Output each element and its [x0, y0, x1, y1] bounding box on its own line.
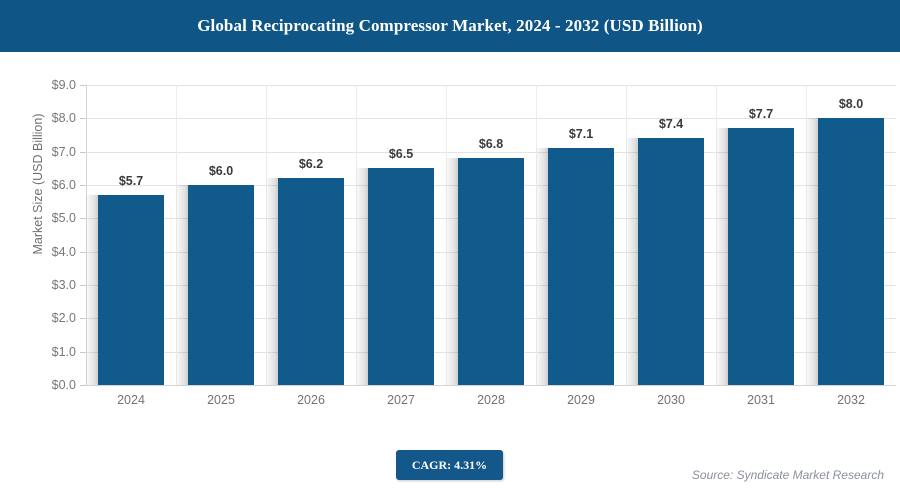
y-tick-mark	[80, 85, 86, 86]
y-tick-mark	[80, 185, 86, 186]
x-tick-label: 2029	[548, 393, 614, 407]
bar-shadow	[715, 128, 728, 385]
bar-group: $6.22026	[278, 85, 344, 385]
bar[interactable]	[278, 178, 344, 385]
bar-group: $5.72024	[98, 85, 164, 385]
y-tick-label: $2.0	[52, 311, 76, 325]
y-tick-label: $3.0	[52, 278, 76, 292]
bar-value-label: $5.7	[98, 174, 164, 188]
bar[interactable]	[368, 168, 434, 385]
bar-shadow	[85, 195, 98, 385]
y-tick-label: $4.0	[52, 245, 76, 259]
chart-header-banner: Global Reciprocating Compressor Market, …	[0, 0, 900, 52]
x-tick-label: 2030	[638, 393, 704, 407]
bar[interactable]	[548, 148, 614, 385]
bar-group: $6.52027	[368, 85, 434, 385]
bar-shadow	[805, 118, 818, 385]
bar[interactable]	[818, 118, 884, 385]
bar-shadow	[535, 148, 548, 385]
bar-group: $6.02025	[188, 85, 254, 385]
x-tick-label: 2025	[188, 393, 254, 407]
bar[interactable]	[728, 128, 794, 385]
bar-group: $7.12029	[548, 85, 614, 385]
source-note: Source: Syndicate Market Research	[692, 468, 884, 482]
x-tick-label: 2027	[368, 393, 434, 407]
bar[interactable]	[188, 185, 254, 385]
y-tick-label: $8.0	[52, 111, 76, 125]
bar-value-label: $8.0	[818, 97, 884, 111]
y-axis-title: Market Size (USD Billion)	[31, 84, 45, 284]
bar-value-label: $6.5	[368, 147, 434, 161]
bar-group: $7.72031	[728, 85, 794, 385]
bar[interactable]	[638, 138, 704, 385]
chart-page: Global Reciprocating Compressor Market, …	[0, 0, 900, 500]
bar-shadow	[175, 185, 188, 385]
bar-value-label: $7.7	[728, 107, 794, 121]
y-tick-label: $7.0	[52, 145, 76, 159]
bar[interactable]	[98, 195, 164, 385]
y-tick-label: $5.0	[52, 211, 76, 225]
x-tick-label: 2026	[278, 393, 344, 407]
bar-shadow	[265, 178, 278, 385]
bar-group: $7.42030	[638, 85, 704, 385]
bar-value-label: $6.2	[278, 157, 344, 171]
bar[interactable]	[458, 158, 524, 385]
cagr-label: CAGR: 4.31%	[412, 458, 487, 473]
y-tick-label: $0.0	[52, 378, 76, 392]
gridline	[86, 385, 896, 386]
bar-group: $8.02032	[818, 85, 884, 385]
bar-shadow	[625, 138, 638, 385]
y-tick-mark	[80, 385, 86, 386]
x-tick-label: 2028	[458, 393, 524, 407]
y-tick-mark	[80, 118, 86, 119]
bar-shadow	[355, 168, 368, 385]
bar-value-label: $7.4	[638, 117, 704, 131]
plot-area: $0.0$1.0$2.0$3.0$4.0$5.0$6.0$7.0$8.0$9.0…	[86, 85, 896, 385]
bar-shadow	[445, 158, 458, 385]
cagr-badge: CAGR: 4.31%	[396, 450, 503, 480]
y-tick-label: $9.0	[52, 78, 76, 92]
y-tick-label: $1.0	[52, 345, 76, 359]
bar-value-label: $7.1	[548, 127, 614, 141]
bar-value-label: $6.0	[188, 164, 254, 178]
x-tick-label: 2032	[818, 393, 884, 407]
bar-value-label: $6.8	[458, 137, 524, 151]
y-tick-label: $6.0	[52, 178, 76, 192]
x-tick-label: 2031	[728, 393, 794, 407]
x-tick-label: 2024	[98, 393, 164, 407]
page-title: Global Reciprocating Compressor Market, …	[197, 16, 703, 36]
bar-chart: Market Size (USD Billion) $0.0$1.0$2.0$3…	[0, 52, 900, 422]
y-tick-mark	[80, 152, 86, 153]
bar-group: $6.82028	[458, 85, 524, 385]
